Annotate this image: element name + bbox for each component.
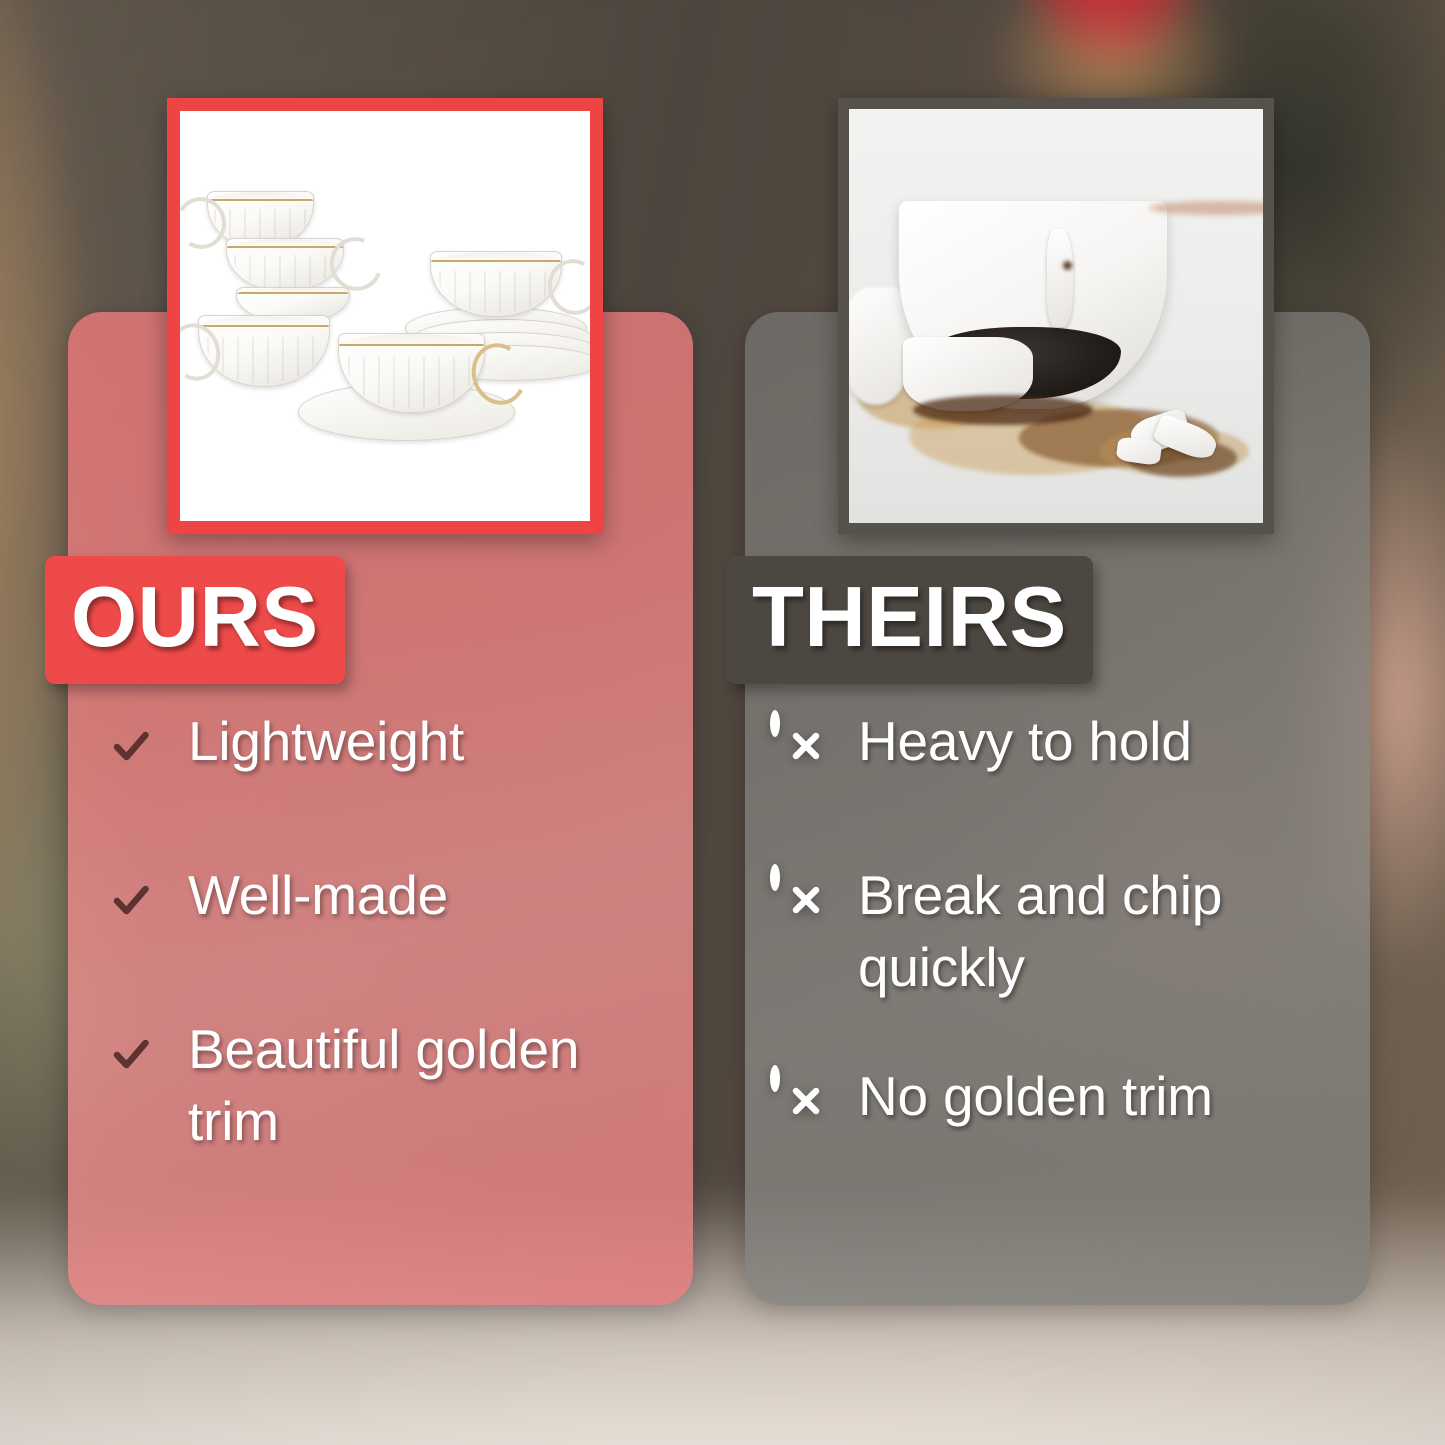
cup-gold-rim <box>339 334 484 346</box>
check-icon <box>100 869 162 931</box>
feature-item: Heavy to hold <box>770 706 1310 802</box>
cup-gold-rim <box>431 252 561 262</box>
coffee-ring <box>913 395 1093 425</box>
ours-label-text: OURS <box>71 575 319 660</box>
theirs-feature-list: Heavy to hold Break and chip quickly <box>770 706 1310 1157</box>
theirs-label: THEIRS <box>726 556 1093 684</box>
feature-label: Break and chip quickly <box>858 860 1310 1003</box>
cup-gold-rim <box>208 192 313 201</box>
comparison-infographic: OURS Lightweight Well-made <box>0 0 1445 1445</box>
cross-icon <box>770 1070 832 1132</box>
cup-fluting <box>234 255 336 289</box>
cross-icon <box>770 715 832 777</box>
feature-item: Beautiful golden trim <box>100 1014 660 1157</box>
cup-handle-fragment <box>1047 229 1073 327</box>
feature-label: No golden trim <box>858 1061 1213 1133</box>
theirs-product-image-frame <box>838 98 1274 534</box>
teacup <box>430 251 562 317</box>
feature-label: Well-made <box>188 860 448 932</box>
broken-cup-photo <box>849 109 1263 523</box>
feature-label: Beautiful golden trim <box>188 1014 660 1157</box>
theirs-label-text: THEIRS <box>752 575 1067 660</box>
cross-icon <box>770 869 832 931</box>
ours-feature-list: Lightweight Well-made Beautiful go <box>100 706 660 1157</box>
cup-fluting <box>207 337 321 383</box>
feature-item: No golden trim <box>770 1061 1310 1157</box>
teacup-set-photo <box>180 111 590 521</box>
coffee-drop <box>1063 261 1072 270</box>
check-icon <box>100 715 162 777</box>
cup-gold-rim <box>199 316 329 327</box>
feature-label: Heavy to hold <box>858 706 1192 778</box>
feature-label: Lightweight <box>188 706 464 778</box>
cup-gold-rim <box>227 239 343 248</box>
feature-item: Lightweight <box>100 706 660 802</box>
check-icon <box>100 1023 162 1085</box>
feature-item: Well-made <box>100 860 660 956</box>
ours-label: OURS <box>45 556 345 684</box>
ours-product-image-frame <box>167 98 603 534</box>
feature-item: Break and chip quickly <box>770 860 1310 1003</box>
cup-gold-rim <box>237 288 349 294</box>
teacup <box>226 238 344 292</box>
cup-fluting <box>439 271 553 313</box>
